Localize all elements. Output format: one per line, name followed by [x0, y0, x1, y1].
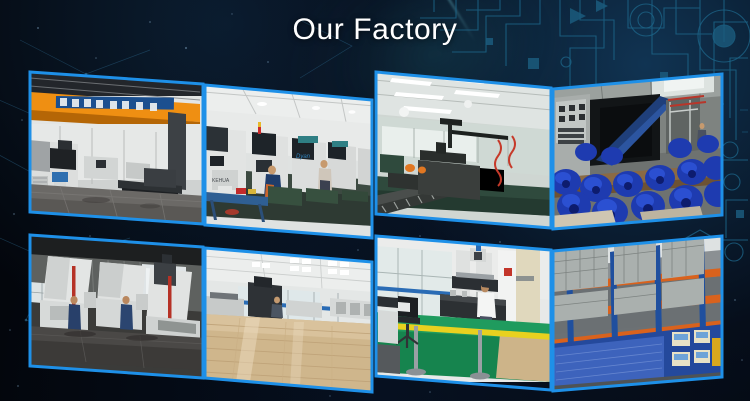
photo-2[interactable]: KEHUA Dyan — [203, 83, 375, 241]
page-title: Our Factory — [0, 13, 750, 47]
photo-8[interactable] — [551, 220, 725, 396]
photo-7[interactable] — [374, 234, 554, 382]
svg-text:Dyan: Dyan — [296, 154, 311, 160]
photo-3[interactable] — [374, 70, 554, 230]
photo-gallery: KEHUA Dyan — [0, 0, 750, 401]
photo-6[interactable] — [203, 246, 375, 394]
svg-text:KEHUA: KEHUA — [212, 178, 230, 184]
photo-4[interactable] — [551, 58, 732, 230]
factory-banner: Our Factory — [0, 0, 750, 401]
photo-5[interactable] — [28, 233, 206, 381]
photo-1[interactable] — [28, 70, 206, 226]
